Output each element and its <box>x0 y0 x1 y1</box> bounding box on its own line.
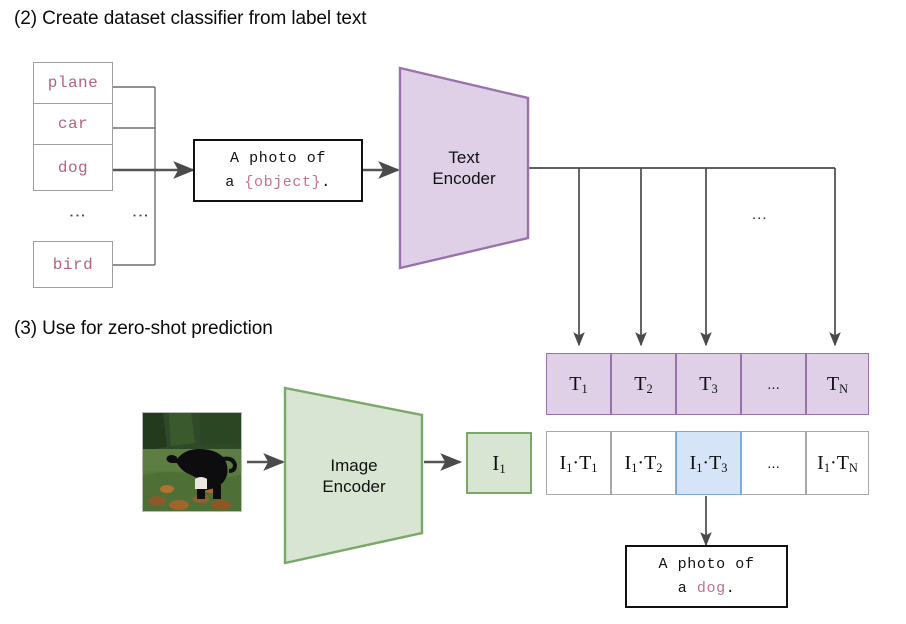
similarity-cell-1[interactable]: I1·T1 <box>546 431 611 495</box>
text-embedding-symbol: TN <box>827 373 848 396</box>
label-box-car[interactable]: car <box>33 103 113 145</box>
text-embedding-cell-n[interactable]: TN <box>806 353 869 415</box>
prompt-line-2-suffix: . <box>321 174 331 191</box>
image-embedding-symbol: I1 <box>492 451 506 476</box>
bus-ellipsis: ... <box>752 206 768 223</box>
prediction-line-1: A photo of <box>658 553 754 576</box>
text-encoder-shape[interactable] <box>394 64 534 272</box>
prompt-template-box[interactable]: A photo of a {object}. <box>193 139 363 202</box>
label-text: car <box>58 115 88 133</box>
input-photo[interactable] <box>142 412 242 512</box>
labels-vertical-ellipsis-left: ⋮ <box>64 200 82 230</box>
label-box-plane[interactable]: plane <box>33 62 113 104</box>
similarity-expression: I1·T2 <box>625 452 663 475</box>
image-encoder-shape[interactable] <box>280 385 428 567</box>
similarity-cell-3-highlighted[interactable]: I1·T3 <box>676 431 741 495</box>
label-text: bird <box>53 256 93 274</box>
text-embedding-symbol: T2 <box>634 373 652 396</box>
prediction-line-2-prefix: a <box>678 580 697 597</box>
prompt-line-2-prefix: a <box>225 174 244 191</box>
text-embedding-cell-3[interactable]: T3 <box>676 353 741 415</box>
label-box-dog[interactable]: dog <box>33 144 113 191</box>
similarity-ellipsis: ... <box>767 455 780 472</box>
prompt-line-1: A photo of <box>230 147 326 170</box>
prediction-line-2-suffix: . <box>726 580 736 597</box>
label-bus-lines <box>113 87 155 265</box>
text-embedding-symbol: T1 <box>569 373 587 396</box>
prompt-object-slot: {object} <box>244 174 321 191</box>
similarity-cell-ellipsis: ... <box>741 431 806 495</box>
section-3-heading: (3) Use for zero-shot prediction <box>14 318 273 340</box>
similarity-expression: I1·TN <box>817 452 858 475</box>
text-embedding-cell-1[interactable]: T1 <box>546 353 611 415</box>
section-2-heading: (2) Create dataset classifier from label… <box>14 8 366 30</box>
prediction-output-box: A photo of a dog. <box>625 545 788 608</box>
text-embedding-cell-ellipsis: ... <box>741 353 806 415</box>
similarity-cell-n[interactable]: I1·TN <box>806 431 869 495</box>
similarity-expression: I1·T3 <box>690 452 728 475</box>
label-text: dog <box>58 159 88 177</box>
similarity-expression: I1·T1 <box>560 452 598 475</box>
labels-vertical-ellipsis-right: ⋮ <box>127 200 145 230</box>
prediction-class-name: dog <box>697 580 726 597</box>
text-embedding-symbol: T3 <box>699 373 717 396</box>
prediction-line-2: a dog. <box>678 577 736 600</box>
prompt-line-2: a {object}. <box>225 171 331 194</box>
clip-zero-shot-figure: (2) Create dataset classifier from label… <box>0 0 906 624</box>
text-embedding-cell-2[interactable]: T2 <box>611 353 676 415</box>
text-encoder-output-bus <box>528 168 835 345</box>
text-embedding-ellipsis: ... <box>767 376 780 393</box>
similarity-cell-2[interactable]: I1·T2 <box>611 431 676 495</box>
label-box-bird[interactable]: bird <box>33 241 113 288</box>
image-embedding-box[interactable]: I1 <box>466 432 532 494</box>
label-text: plane <box>48 74 99 92</box>
photo-content <box>143 413 241 511</box>
